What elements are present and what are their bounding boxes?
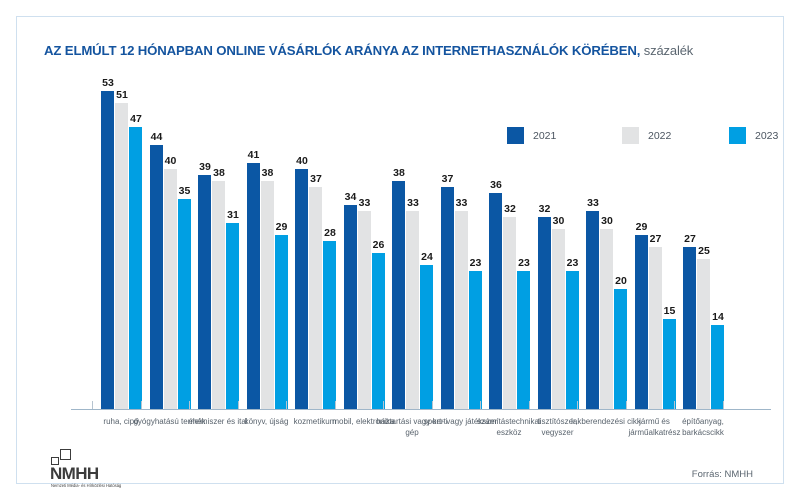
x-axis-tick bbox=[383, 401, 384, 409]
x-axis-tick bbox=[335, 401, 336, 409]
bar-value-label: 38 bbox=[385, 168, 413, 179]
x-axis-line bbox=[71, 409, 771, 410]
bar-2022[interactable] bbox=[649, 247, 662, 409]
bar-2023[interactable] bbox=[275, 235, 288, 409]
bar-value-label: 51 bbox=[108, 90, 136, 101]
x-axis-tick bbox=[723, 401, 724, 409]
bar-2022[interactable] bbox=[697, 259, 710, 409]
bar-value-label: 53 bbox=[94, 78, 122, 89]
bar-2021[interactable] bbox=[392, 181, 405, 409]
bar-2021[interactable] bbox=[683, 247, 696, 409]
x-axis-category-label: építőanyag, barkácscikk bbox=[666, 417, 740, 438]
bar-value-label: 26 bbox=[365, 240, 393, 251]
bar-value-label: 44 bbox=[143, 132, 171, 143]
bar-2023[interactable] bbox=[469, 271, 482, 409]
bar-value-label: 24 bbox=[413, 252, 441, 263]
bar-value-label: 40 bbox=[288, 156, 316, 167]
bar-value-label: 41 bbox=[240, 150, 268, 161]
bar-2022[interactable] bbox=[164, 169, 177, 409]
bar-value-label: 38 bbox=[205, 168, 233, 179]
bar-value-label: 47 bbox=[122, 114, 150, 125]
bar-value-label: 37 bbox=[302, 174, 330, 185]
bar-value-label: 29 bbox=[628, 222, 656, 233]
chart-plot-area: 5351474440353938314138294037283433263833… bbox=[71, 79, 771, 409]
page-title: AZ ELMÚLT 12 HÓNAPBAN ONLINE VÁSÁRLÓK AR… bbox=[44, 43, 693, 58]
bar-2023[interactable] bbox=[663, 319, 676, 409]
bar-value-label: 23 bbox=[559, 258, 587, 269]
bar-value-label: 37 bbox=[434, 174, 462, 185]
bar-2021[interactable] bbox=[441, 187, 454, 409]
bar-2023[interactable] bbox=[517, 271, 530, 409]
x-axis-tick bbox=[92, 401, 93, 409]
bar-value-label: 14 bbox=[704, 312, 732, 323]
logo-tagline: Nemzeti Média- és Hírközlési Hatóság bbox=[51, 483, 121, 488]
bar-value-label: 33 bbox=[399, 198, 427, 209]
bar-2022[interactable] bbox=[309, 187, 322, 409]
bar-2021[interactable] bbox=[344, 205, 357, 409]
x-axis-tick bbox=[141, 401, 142, 409]
bar-2022[interactable] bbox=[552, 229, 565, 409]
bar-value-label: 30 bbox=[545, 216, 573, 227]
bar-value-label: 29 bbox=[268, 222, 296, 233]
source-note: Forrás: NMHH bbox=[692, 469, 753, 480]
bar-2023[interactable] bbox=[226, 223, 239, 409]
bar-2023[interactable] bbox=[372, 253, 385, 409]
bar-value-label: 36 bbox=[482, 180, 510, 191]
chart-card: AZ ELMÚLT 12 HÓNAPBAN ONLINE VÁSÁRLÓK AR… bbox=[16, 16, 784, 484]
bar-2023[interactable] bbox=[323, 241, 336, 409]
bar-2022[interactable] bbox=[455, 211, 468, 409]
bar-2023[interactable] bbox=[566, 271, 579, 409]
bar-2023[interactable] bbox=[711, 325, 724, 409]
bar-2021[interactable] bbox=[586, 211, 599, 409]
bar-value-label: 28 bbox=[316, 228, 344, 239]
bar-value-label: 23 bbox=[462, 258, 490, 269]
bar-2021[interactable] bbox=[538, 217, 551, 409]
title-subtitle: százalék bbox=[640, 43, 693, 58]
bar-2021[interactable] bbox=[635, 235, 648, 409]
x-axis-tick bbox=[432, 401, 433, 409]
bar-2022[interactable] bbox=[600, 229, 613, 409]
x-axis-tick bbox=[529, 401, 530, 409]
bar-value-label: 33 bbox=[448, 198, 476, 209]
bar-value-label: 31 bbox=[219, 210, 247, 221]
x-axis-tick bbox=[674, 401, 675, 409]
bar-2022[interactable] bbox=[115, 103, 128, 409]
bar-2022[interactable] bbox=[261, 181, 274, 409]
bar-2023[interactable] bbox=[178, 199, 191, 409]
bar-value-label: 35 bbox=[171, 186, 199, 197]
bar-2023[interactable] bbox=[614, 289, 627, 409]
bar-2021[interactable] bbox=[295, 169, 308, 409]
bar-2022[interactable] bbox=[503, 217, 516, 409]
bar-value-label: 32 bbox=[531, 204, 559, 215]
bar-2021[interactable] bbox=[150, 145, 163, 409]
x-axis-tick bbox=[189, 401, 190, 409]
bar-value-label: 15 bbox=[656, 306, 684, 317]
title-main: AZ ELMÚLT 12 HÓNAPBAN ONLINE VÁSÁRLÓK AR… bbox=[44, 43, 640, 58]
x-axis-tick bbox=[286, 401, 287, 409]
bar-value-label: 23 bbox=[510, 258, 538, 269]
bar-2023[interactable] bbox=[420, 265, 433, 409]
bar-value-label: 27 bbox=[676, 234, 704, 245]
x-axis-tick bbox=[480, 401, 481, 409]
bar-value-label: 40 bbox=[157, 156, 185, 167]
logo-square-large-icon bbox=[60, 449, 71, 460]
x-axis-tick bbox=[577, 401, 578, 409]
x-axis-tick bbox=[238, 401, 239, 409]
bar-value-label: 30 bbox=[593, 216, 621, 227]
bar-value-label: 38 bbox=[254, 168, 282, 179]
bar-2021[interactable] bbox=[489, 193, 502, 409]
bar-2023[interactable] bbox=[129, 127, 142, 409]
bar-value-label: 20 bbox=[607, 276, 635, 287]
bar-value-label: 33 bbox=[351, 198, 379, 209]
bar-2021[interactable] bbox=[247, 163, 260, 409]
bar-2021[interactable] bbox=[101, 91, 114, 409]
bar-value-label: 33 bbox=[579, 198, 607, 209]
logo-wordmark: NMHH bbox=[50, 464, 99, 484]
bar-value-label: 27 bbox=[642, 234, 670, 245]
bar-value-label: 32 bbox=[496, 204, 524, 215]
bar-value-label: 25 bbox=[690, 246, 718, 257]
bar-2022[interactable] bbox=[406, 211, 419, 409]
x-axis-tick bbox=[626, 401, 627, 409]
bar-2021[interactable] bbox=[198, 175, 211, 409]
nmhh-logo: NMHH Nemzeti Média- és Hírközlési Hatósá… bbox=[47, 449, 167, 491]
